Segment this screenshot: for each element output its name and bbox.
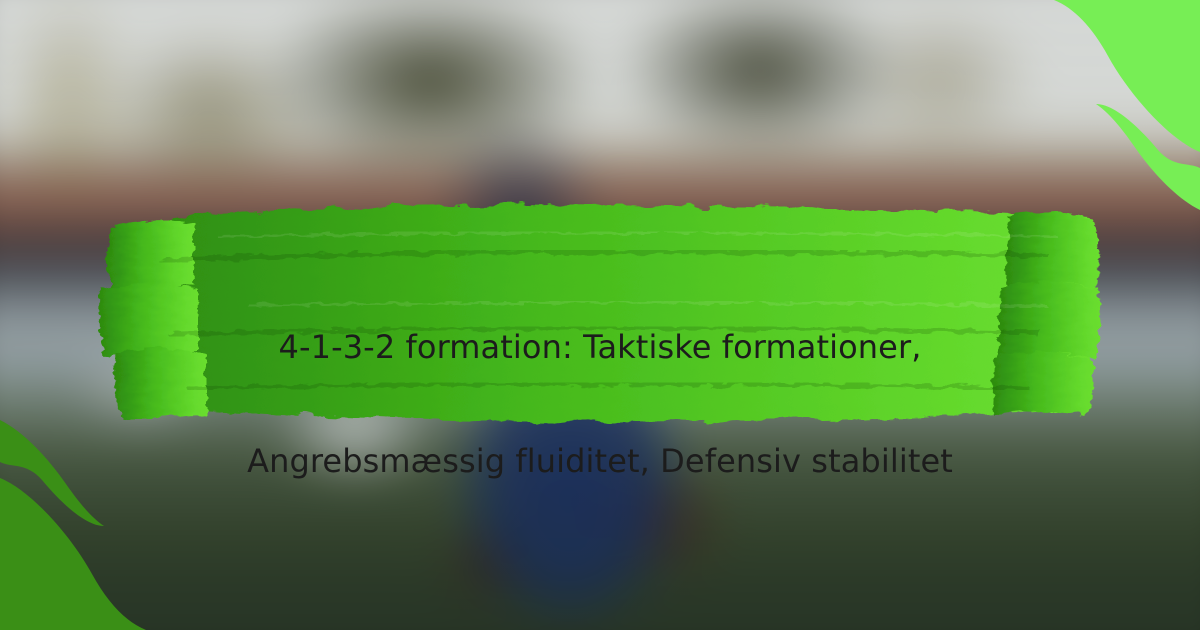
- headline-line-2: Angrebsmæssig fluiditet, Defensiv stabil…: [150, 433, 1050, 490]
- share-card: 4-1-3-2 formation: Taktiske formationer,…: [0, 0, 1200, 630]
- headline-line-1: 4-1-3-2 formation: Taktiske formationer,: [150, 319, 1050, 376]
- headline: 4-1-3-2 formation: Taktiske formationer,…: [150, 262, 1050, 547]
